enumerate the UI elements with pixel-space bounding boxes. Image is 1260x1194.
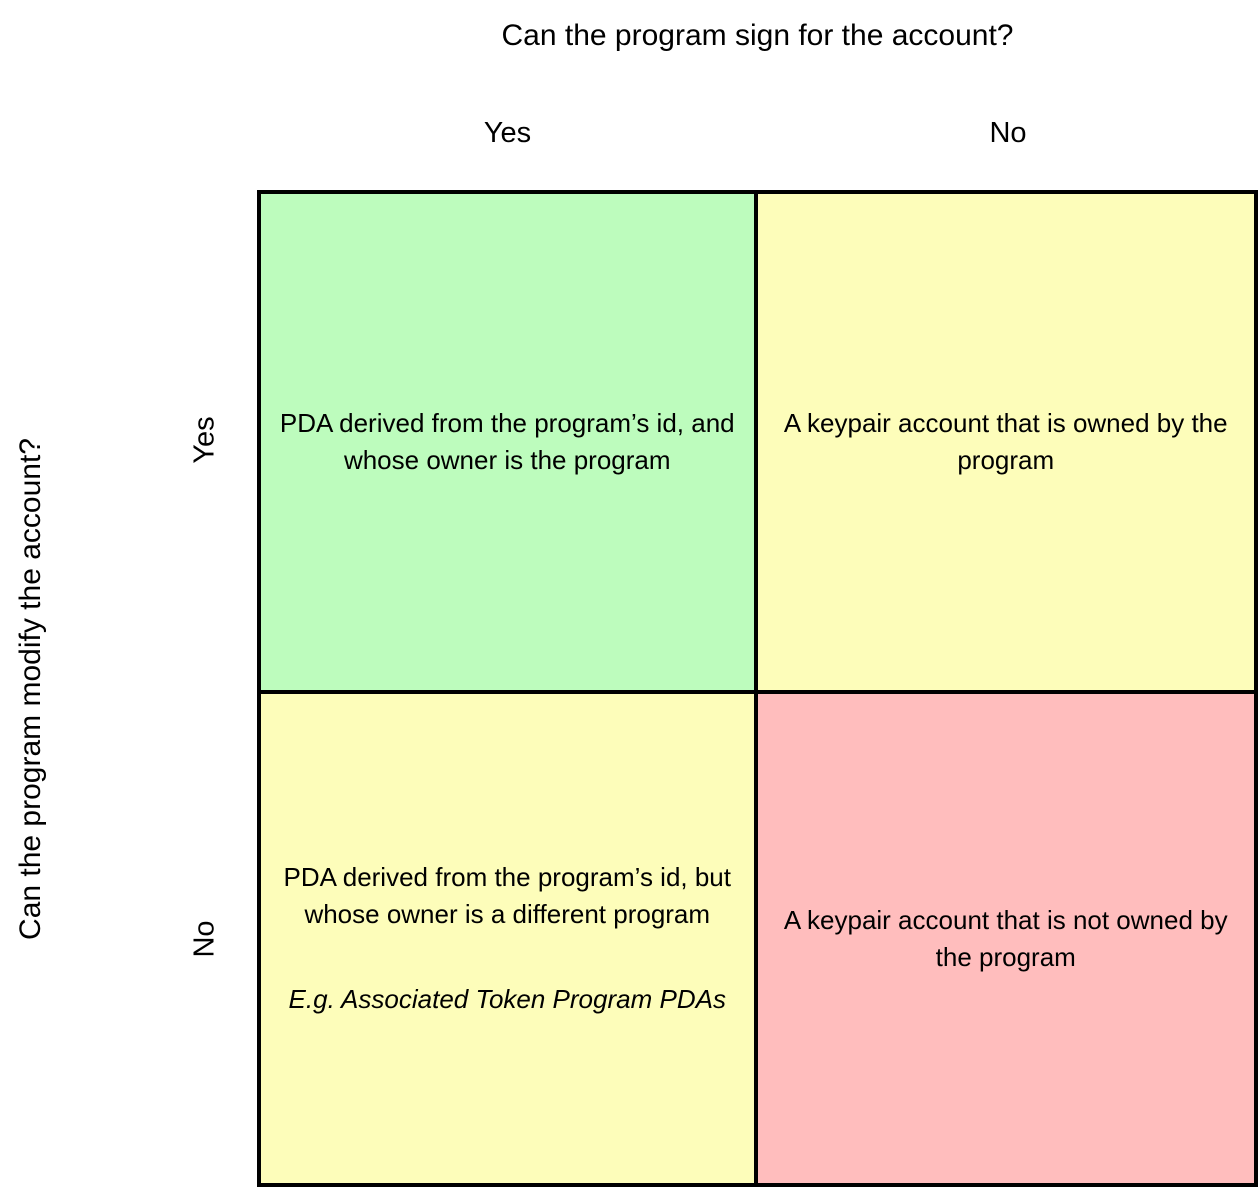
row-header-yes: Yes [165,190,245,690]
row-header-no-label: No [188,920,222,957]
column-header-no: No [758,113,1258,163]
column-axis-title: Can the program sign for the account? [257,18,1258,54]
matrix-cell-no-yes: PDA derived from the program’s id, but w… [261,694,758,1183]
matrix-cell-no-yes-text: PDA derived from the program’s id, but w… [275,859,740,933]
matrix-cell-no-no: A keypair account that is not owned by t… [758,694,1255,1183]
column-header-row: Yes No [257,113,1258,163]
matrix-cell-yes-no-text: A keypair account that is owned by the p… [772,405,1241,479]
matrix-cell-no-yes-note: E.g. Associated Token Program PDAs [289,981,726,1018]
matrix-cell-no-no-text: A keypair account that is not owned by t… [772,902,1241,976]
row-header-no: No [165,690,245,1187]
decision-matrix: PDA derived from the program’s id, and w… [257,190,1258,1187]
row-axis-title-container: Can the program modify the account? [0,190,62,1187]
row-axis-title: Can the program modify the account? [14,438,48,940]
row-header-yes-label: Yes [188,416,222,463]
matrix-cell-yes-no: A keypair account that is owned by the p… [758,194,1255,694]
matrix-cell-yes-yes: PDA derived from the program’s id, and w… [261,194,758,694]
matrix-cell-yes-yes-text: PDA derived from the program’s id, and w… [275,405,740,479]
column-header-yes: Yes [257,113,758,163]
row-header-column: Yes No [165,190,245,1187]
